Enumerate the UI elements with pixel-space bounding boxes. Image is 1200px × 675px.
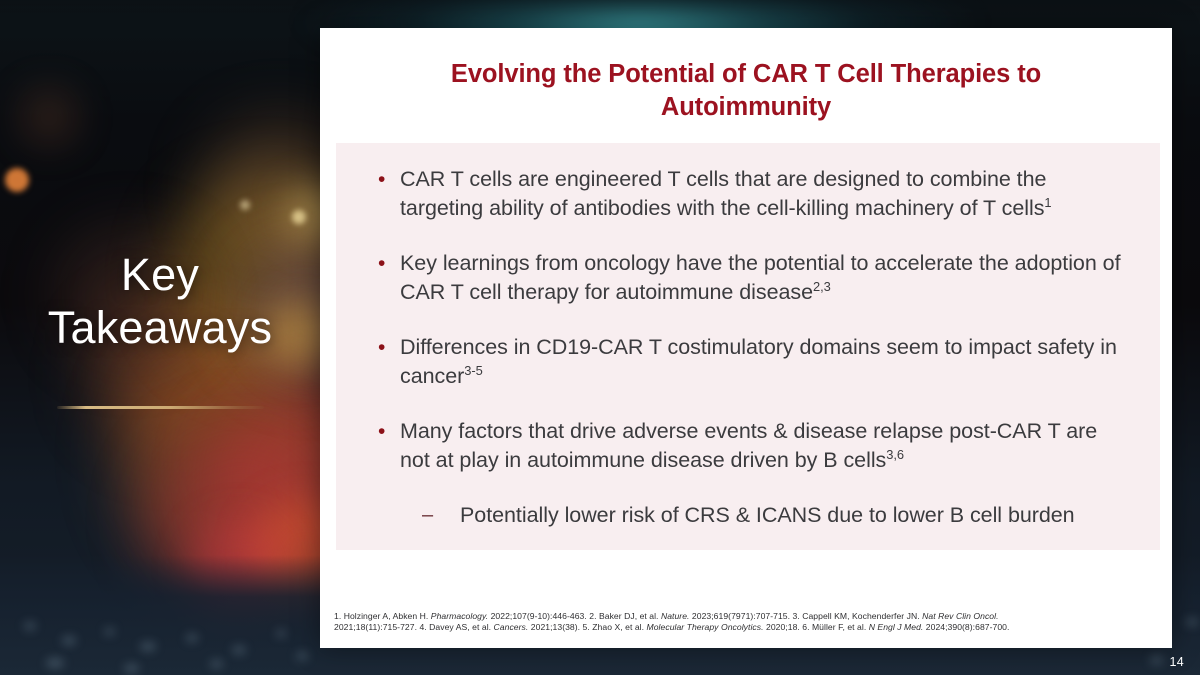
footnote-journal: Nat Rev Clin Oncol. [922,611,998,621]
footnote-seg: 2023;619(7971):707-715. 3. Cappell KM, K… [689,611,922,621]
bullet-text-body: CAR T cells are engineered T cells that … [400,167,1046,220]
bullet-text-body: Key learnings from oncology have the pot… [400,251,1121,304]
bullet-marker-icon: • [378,333,400,362]
bullet-text: Key learnings from oncology have the pot… [400,249,1130,307]
bullet-text: CAR T cells are engineered T cells that … [400,165,1130,223]
bullet-text: Differences in CD19-CAR T costimulatory … [400,333,1130,391]
footnote-line-1: 1. Holzinger A, Abken H. Pharmacology. 2… [334,611,1146,623]
bullet-reference-superscript: 3,6 [886,447,904,462]
footnote-journal: N Engl J Med. [869,622,924,632]
footnote-seg: 2021;18(11):715-727. 4. Davey AS, et al. [334,622,494,632]
content-card: Evolving the Potential of CAR T Cell The… [320,28,1172,648]
footnote-seg: 2021;13(38). 5. Zhao X, et al. [528,622,646,632]
sub-bullet-item: – Potentially lower risk of CRS & ICANS … [422,501,1130,530]
footnote-seg: 2022;107(9-10):446-463. 2. Baker DJ, et … [488,611,661,621]
left-title-panel: Key Takeaways [0,0,320,675]
bullet-item: • Many factors that drive adverse events… [378,417,1130,475]
bullet-reference-superscript: 1 [1044,195,1051,210]
speckle-light [1186,618,1198,626]
footnote-journal: Cancers. [494,622,529,632]
bullet-reference-superscript: 3-5 [464,363,482,378]
footnote-seg: 2020;18. 6. Müller F, et al. [764,622,869,632]
bullet-text: Many factors that drive adverse events &… [400,417,1130,475]
bullet-text-body: Differences in CD19-CAR T costimulatory … [400,335,1117,388]
bullet-text-body: Many factors that drive adverse events &… [400,419,1097,472]
bullet-list: • CAR T cells are engineered T cells tha… [378,165,1130,530]
footnote-journal: Nature. [661,611,690,621]
footnote-line-2: 2021;18(11):715-727. 4. Davey AS, et al.… [334,622,1146,634]
slide-canvas: Key Takeaways Evolving the Potential of … [0,0,1200,675]
sub-bullet-marker-icon: – [422,501,460,530]
footnote-journal: Molecular Therapy Oncolytics. [647,622,764,632]
page-number: 14 [1169,655,1184,669]
footnote-journal: Pharmacology. [431,611,488,621]
sub-bullet-text: Potentially lower risk of CRS & ICANS du… [460,501,1130,530]
bullet-item: • CAR T cells are engineered T cells tha… [378,165,1130,223]
footnote-seg: 1. Holzinger A, Abken H. [334,611,431,621]
bullet-panel: • CAR T cells are engineered T cells tha… [336,143,1160,550]
bullet-marker-icon: • [378,417,400,446]
speckle-light [1150,656,1163,664]
bullet-item: • Differences in CD19-CAR T costimulator… [378,333,1130,391]
key-takeaways-heading-line2: Takeaways [0,301,320,354]
footnote-seg: 2024;390(8):687-700. [923,622,1009,632]
bullet-marker-icon: • [378,165,400,194]
key-takeaways-heading: Key Takeaways [0,248,320,354]
gold-divider-rule [57,406,264,409]
footnote-references: 1. Holzinger A, Abken H. Pharmacology. 2… [334,611,1146,634]
bullet-item: • Key learnings from oncology have the p… [378,249,1130,307]
bullet-marker-icon: • [378,249,400,278]
key-takeaways-heading-line1: Key [0,248,320,301]
slide-title: Evolving the Potential of CAR T Cell The… [382,58,1110,124]
bullet-reference-superscript: 2,3 [813,279,831,294]
